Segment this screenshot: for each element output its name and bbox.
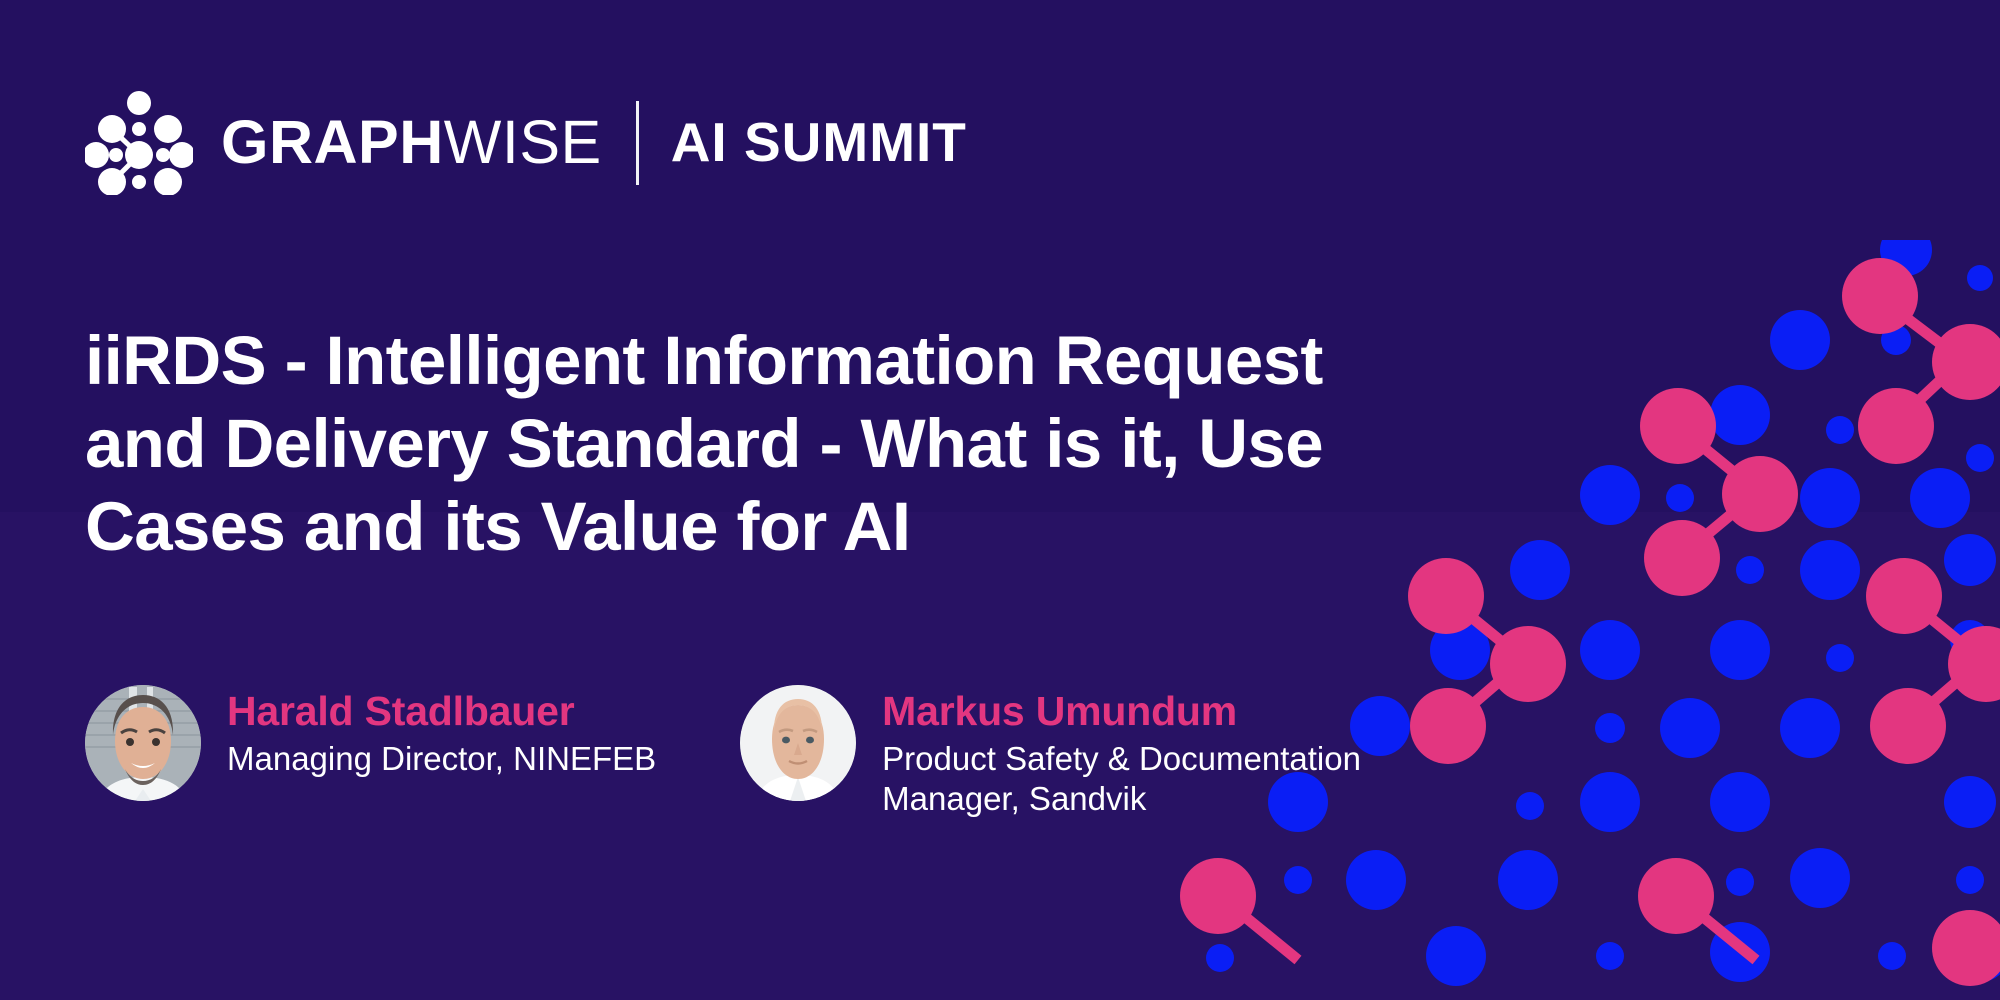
brand-word-secondary: WISE bbox=[444, 108, 602, 176]
speaker-name: Markus Umundum bbox=[882, 689, 1361, 735]
speaker-photo-avatar bbox=[85, 685, 201, 801]
speaker-info: Harald Stadlbauer Managing Director, NIN… bbox=[227, 685, 656, 779]
speaker-name: Harald Stadlbauer bbox=[227, 689, 656, 735]
brand-word-primary: GRAPH bbox=[221, 108, 444, 176]
title-line-2: and Delivery Standard - What is it, Use bbox=[85, 403, 1415, 486]
speaker-list: Harald Stadlbauer Managing Director, NIN… bbox=[85, 685, 1361, 819]
speaker-card: Harald Stadlbauer Managing Director, NIN… bbox=[85, 685, 656, 801]
speaker-role-line: Product Safety & Documentation bbox=[882, 739, 1361, 779]
speaker-role: Managing Director, NINEFEB bbox=[227, 739, 656, 779]
speaker-card: Markus Umundum Product Safety & Document… bbox=[740, 685, 1361, 819]
logo-divider bbox=[636, 101, 639, 185]
title-line-3: Cases and its Value for AI bbox=[85, 486, 1415, 569]
brand-wordmark: GRAPHWISE bbox=[221, 112, 602, 173]
speaker-info: Markus Umundum Product Safety & Document… bbox=[882, 685, 1361, 819]
event-banner: GRAPHWISE AI SUMMIT iiRDS - Intelligent … bbox=[0, 0, 2000, 1000]
speaker-photo-avatar bbox=[740, 685, 856, 801]
brand-logo-lockup: GRAPHWISE AI SUMMIT bbox=[85, 90, 967, 195]
title-line-1: iiRDS - Intelligent Information Request bbox=[85, 320, 1415, 403]
speaker-role-line: Manager, Sandvik bbox=[882, 779, 1361, 819]
speaker-role-line: Managing Director, NINEFEB bbox=[227, 739, 656, 779]
event-name: AI SUMMIT bbox=[671, 115, 967, 170]
graph-node-network-icon bbox=[85, 90, 193, 195]
session-title: iiRDS - Intelligent Information Request … bbox=[85, 320, 1415, 568]
speaker-role: Product Safety & Documentation Manager, … bbox=[882, 739, 1361, 820]
